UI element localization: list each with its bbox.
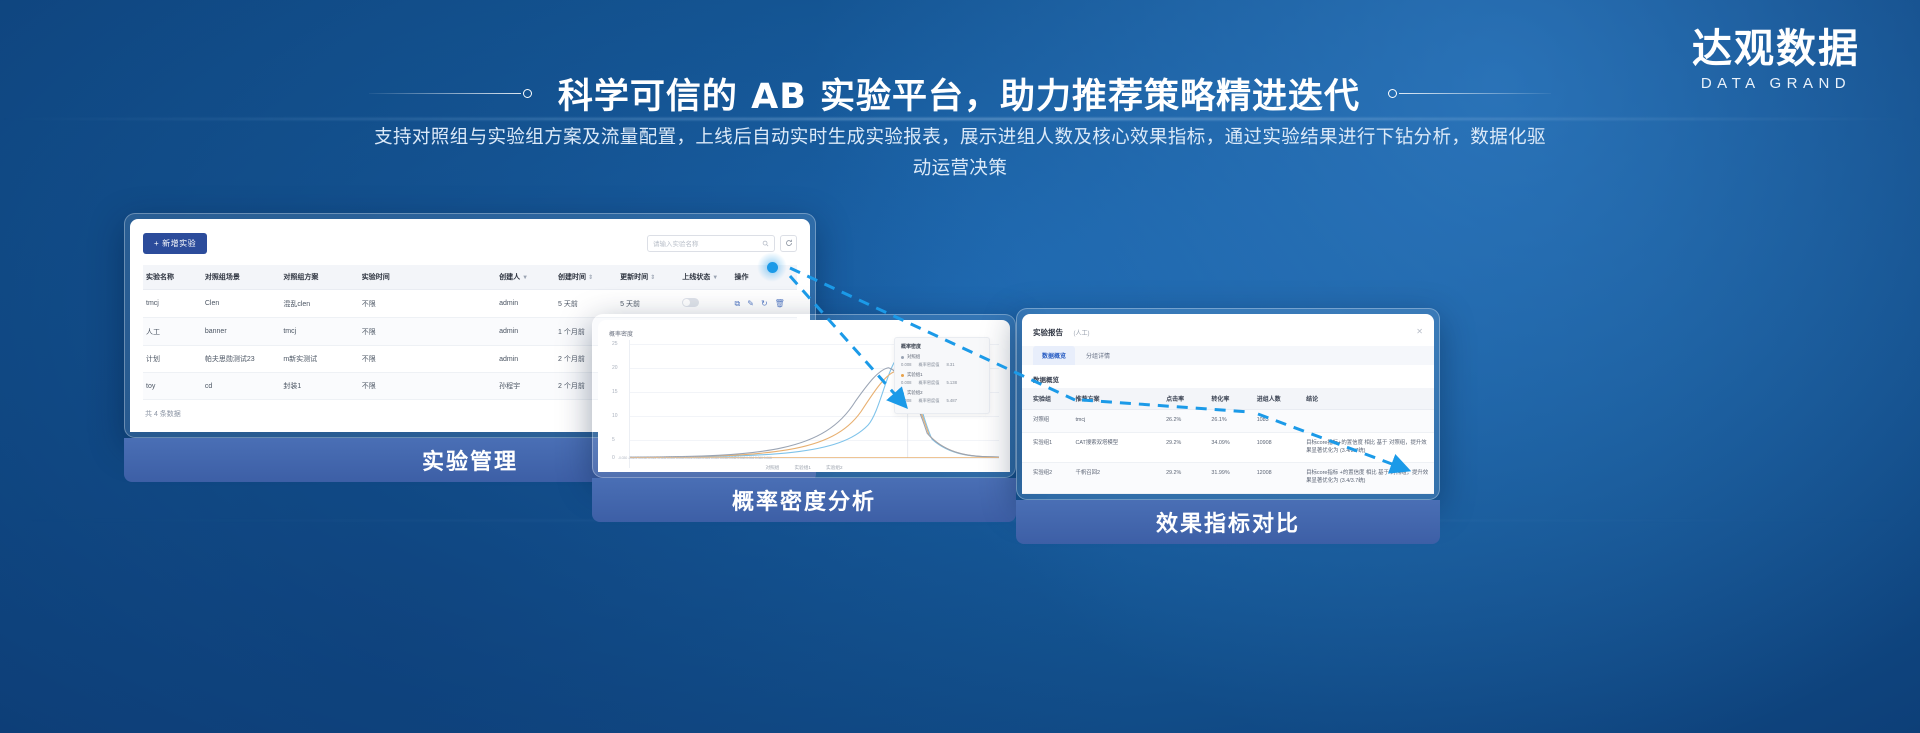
col-cvr: 转化率 bbox=[1207, 388, 1252, 410]
col-control-scene: 对照组场景 bbox=[202, 265, 280, 290]
cell-scene: banner bbox=[202, 318, 280, 346]
close-icon[interactable]: ✕ bbox=[1416, 327, 1423, 336]
cell-conclusion: 目标core指标 +的置信度 相比 基于 对照组，提升效果显著优化为 (3.4/… bbox=[1302, 463, 1434, 494]
cell-name: toy bbox=[143, 373, 202, 400]
cell-cvr: 31.99% bbox=[1207, 463, 1252, 494]
dialog-subtitle: (人工) bbox=[1073, 331, 1089, 337]
tooltip-x: 0.008 bbox=[901, 362, 911, 368]
col-group: 实验组 bbox=[1022, 388, 1071, 410]
edit-icon[interactable]: ✎ bbox=[747, 299, 754, 309]
cell-conclusion bbox=[1302, 410, 1434, 433]
filter-icon: ▼ bbox=[712, 275, 718, 281]
experiments-header-row: 实验名称 对照组场景 对照组方案 实验时间 创建人▼ 创建时间⇕ 更新时间⇕ 上… bbox=[143, 265, 797, 290]
dialog-title: 实验报告 bbox=[1033, 328, 1063, 337]
tooltip-x: 0.008 bbox=[901, 380, 911, 386]
add-experiment-button[interactable]: + 新增实验 bbox=[143, 233, 207, 254]
col-conclusion: 结论 bbox=[1302, 388, 1434, 410]
cell-period: 不限 bbox=[359, 346, 496, 373]
density-legend: 对照组 实验组1 实验组2 bbox=[598, 465, 1010, 471]
tooltip-metric: 8.31 bbox=[946, 362, 954, 368]
cell-users: 10908 bbox=[1253, 432, 1302, 463]
col-ctr: 点击率 bbox=[1162, 388, 1207, 410]
sort-icon: ⇕ bbox=[588, 275, 593, 281]
heading-decoration-left bbox=[369, 89, 532, 98]
cell-plan: tmcj bbox=[1071, 410, 1162, 433]
report-tabs: 数据概览 分组详情 bbox=[1022, 346, 1434, 365]
cell-cvr: 34.09% bbox=[1207, 432, 1252, 463]
tooltip-metric-label: 概率密度值 bbox=[918, 362, 939, 368]
col-created-time[interactable]: 创建时间⇕ bbox=[555, 265, 617, 290]
cell-period: 不限 bbox=[359, 290, 496, 318]
col-experiment-period: 实验时间 bbox=[359, 265, 496, 290]
cell-ctr: 26.2% bbox=[1162, 410, 1207, 433]
tooltip-metric: 5.138 bbox=[946, 380, 956, 386]
tooltip-metric-label: 概率密度值 bbox=[918, 380, 939, 386]
screenshot-density-chart: 概率密度 25 20 15 10 5 0 bbox=[598, 320, 1010, 472]
cell-name: 人工 bbox=[143, 318, 202, 346]
online-toggle[interactable] bbox=[682, 298, 699, 307]
cell-scene: 帕夫思勋测试23 bbox=[202, 346, 280, 373]
delete-icon[interactable]: 🗑 bbox=[775, 299, 785, 309]
cell-users: 12008 bbox=[1253, 463, 1302, 494]
cell-cvr: 26.1% bbox=[1207, 410, 1252, 433]
cell-users: 1083 bbox=[1253, 410, 1302, 433]
panel-frame-density: 概率密度 25 20 15 10 5 0 bbox=[592, 314, 1016, 478]
cell-plan: m新实测试 bbox=[280, 346, 358, 373]
tooltip-group: 实验组1 0.008概率密度值5.138 bbox=[901, 372, 983, 386]
search-input[interactable]: 请输入实验名称 bbox=[647, 235, 775, 252]
search-icon bbox=[762, 240, 769, 247]
cell-group: 对照组 bbox=[1022, 410, 1071, 433]
cell-scene: Clen bbox=[202, 290, 280, 318]
panel-frame-metrics: 实验报告 (人工) ✕ 数据概览 分组详情 数据概览 实验组 推荐方案 bbox=[1016, 308, 1440, 500]
y-tick: 25 bbox=[612, 341, 618, 347]
col-plan: 推荐方案 bbox=[1071, 388, 1162, 410]
col-users: 进组人数 bbox=[1253, 388, 1302, 410]
cell-conclusion: 目标core指标+的置信度 相比 基于 对照组，提升效果显著优化为 (3.4/3… bbox=[1302, 432, 1434, 463]
sort-icon: ⇕ bbox=[650, 275, 655, 281]
cell-plan: 千帆召回2 bbox=[1071, 463, 1162, 494]
cell-plan: tmcj bbox=[280, 318, 358, 346]
screenshot-metric-table: 实验报告 (人工) ✕ 数据概览 分组详情 数据概览 实验组 推荐方案 bbox=[1022, 314, 1434, 494]
y-tick: 5 bbox=[612, 437, 615, 443]
metrics-table: 实验组 推荐方案 点击率 转化率 进组人数 结论 对照组 tmcj 26.2% … bbox=[1022, 388, 1434, 494]
plus-icon: + bbox=[154, 239, 159, 248]
heading-decoration-right bbox=[1386, 89, 1551, 98]
page-subtitle: 支持对照组与实验组方案及流量配置，上线后自动实时生成实验报表，展示进组人数及核心… bbox=[370, 122, 1550, 184]
cell-name: 计划 bbox=[143, 346, 202, 373]
report-dialog-header: 实验报告 (人工) ✕ bbox=[1022, 314, 1434, 346]
cell-group: 实验组1 bbox=[1022, 432, 1071, 463]
col-control-plan: 对照组方案 bbox=[280, 265, 358, 290]
col-updated-time[interactable]: 更新时间⇕ bbox=[617, 265, 679, 290]
metrics-header-row: 实验组 推荐方案 点击率 转化率 进组人数 结论 bbox=[1022, 388, 1434, 410]
decoration-dot-left bbox=[523, 89, 532, 98]
density-x-axis-labels: -0.030 -0.024 -0.018 -0.012 -0.006 0.000… bbox=[618, 456, 1010, 460]
add-experiment-label: 新增实验 bbox=[162, 238, 196, 249]
cell-plan: 混乱clen bbox=[280, 290, 358, 318]
cursor-pulse-indicator bbox=[757, 252, 787, 282]
tooltip-title: 概率密度 bbox=[901, 343, 983, 350]
y-tick: 10 bbox=[612, 413, 618, 419]
cell-name: tmcj bbox=[143, 290, 202, 318]
table-row[interactable]: 实验组1 CAT搜索双塔模型 29.2% 34.09% 10908 目标core… bbox=[1022, 432, 1434, 463]
cell-plan: 封装1 bbox=[280, 373, 358, 400]
table-row[interactable]: 实验组2 千帆召回2 29.2% 31.99% 12008 目标core指标 +… bbox=[1022, 463, 1434, 494]
cell-group: 实验组2 bbox=[1022, 463, 1071, 494]
experiments-search-group: 请输入实验名称 bbox=[647, 235, 797, 252]
experiments-toolbar: + 新增实验 请输入实验名称 bbox=[143, 230, 797, 256]
tooltip-metric: 5.487 bbox=[946, 398, 956, 404]
decoration-dot-right bbox=[1388, 89, 1397, 98]
col-creator[interactable]: 创建人▼ bbox=[496, 265, 555, 290]
cell-creator: admin bbox=[496, 318, 555, 346]
cell-period: 不限 bbox=[359, 373, 496, 400]
tooltip-x: 0.008 bbox=[901, 398, 911, 404]
copy-icon[interactable]: ⧉ bbox=[735, 299, 741, 309]
tab-data-overview[interactable]: 数据概览 bbox=[1033, 346, 1075, 365]
y-tick: 20 bbox=[612, 365, 618, 371]
cell-ctr: 29.2% bbox=[1162, 463, 1207, 494]
cell-creator: admin bbox=[496, 346, 555, 373]
cell-creator: admin bbox=[496, 290, 555, 318]
search-placeholder: 请输入实验名称 bbox=[653, 238, 762, 248]
refresh-button[interactable] bbox=[780, 235, 797, 252]
tooltip-group: 实验组2 0.008概率密度值5.487 bbox=[901, 390, 983, 404]
legend-item[interactable]: 实验组1 bbox=[795, 465, 811, 470]
hero-heading: 科学可信的 AB 实验平台，助力推荐策略精进迭代 bbox=[0, 68, 1920, 119]
tooltip-metric-label: 概率密度值 bbox=[918, 398, 939, 404]
y-tick: 15 bbox=[612, 389, 618, 395]
section-title: 数据概览 bbox=[1022, 365, 1434, 388]
cell-creator: 孙程宇 bbox=[496, 373, 555, 400]
refresh-icon bbox=[785, 239, 793, 247]
tooltip-group-label: 实验组2 bbox=[907, 390, 923, 396]
restart-icon[interactable]: ↻ bbox=[761, 299, 768, 309]
caption-probability-density: 概率密度分析 bbox=[592, 478, 1016, 522]
tooltip-group: 对照组 0.008概率密度值8.31 bbox=[901, 354, 983, 368]
y-tick: 0 bbox=[612, 455, 615, 461]
cell-ctr: 29.2% bbox=[1162, 432, 1207, 463]
density-tooltip: 概率密度 对照组 0.008概率密度值8.31 实验组1 0.008概率密度值5… bbox=[894, 337, 990, 414]
cell-period: 不限 bbox=[359, 318, 496, 346]
brand-name-cn: 达观数据 bbox=[1692, 28, 1860, 70]
tab-group-detail[interactable]: 分组详情 bbox=[1077, 346, 1119, 365]
panel-metric-comparison: 实验报告 (人工) ✕ 数据概览 分组详情 数据概览 实验组 推荐方案 bbox=[1016, 308, 1440, 544]
legend-item[interactable]: 对照组 bbox=[765, 465, 779, 470]
table-row[interactable]: 对照组 tmcj 26.2% 26.1% 1083 bbox=[1022, 410, 1434, 433]
panel-probability-density: 概率密度 25 20 15 10 5 0 bbox=[592, 314, 1016, 522]
filter-icon: ▼ bbox=[522, 275, 528, 281]
col-online-status[interactable]: 上线状态▼ bbox=[679, 265, 731, 290]
tooltip-group-label: 对照组 bbox=[907, 354, 920, 360]
cell-plan: CAT搜索双塔模型 bbox=[1071, 432, 1162, 463]
col-experiment-name: 实验名称 bbox=[143, 265, 202, 290]
caption-metric-comparison: 效果指标对比 bbox=[1016, 500, 1440, 544]
metrics-table-body: 对照组 tmcj 26.2% 26.1% 1083 实验组1 CAT搜索双塔模型… bbox=[1022, 410, 1434, 494]
cell-scene: cd bbox=[202, 373, 280, 400]
legend-item[interactable]: 实验组2 bbox=[826, 465, 842, 470]
tooltip-group-label: 实验组1 bbox=[907, 372, 923, 378]
page-title: 科学可信的 AB 实验平台，助力推荐策略精进迭代 bbox=[558, 68, 1360, 119]
